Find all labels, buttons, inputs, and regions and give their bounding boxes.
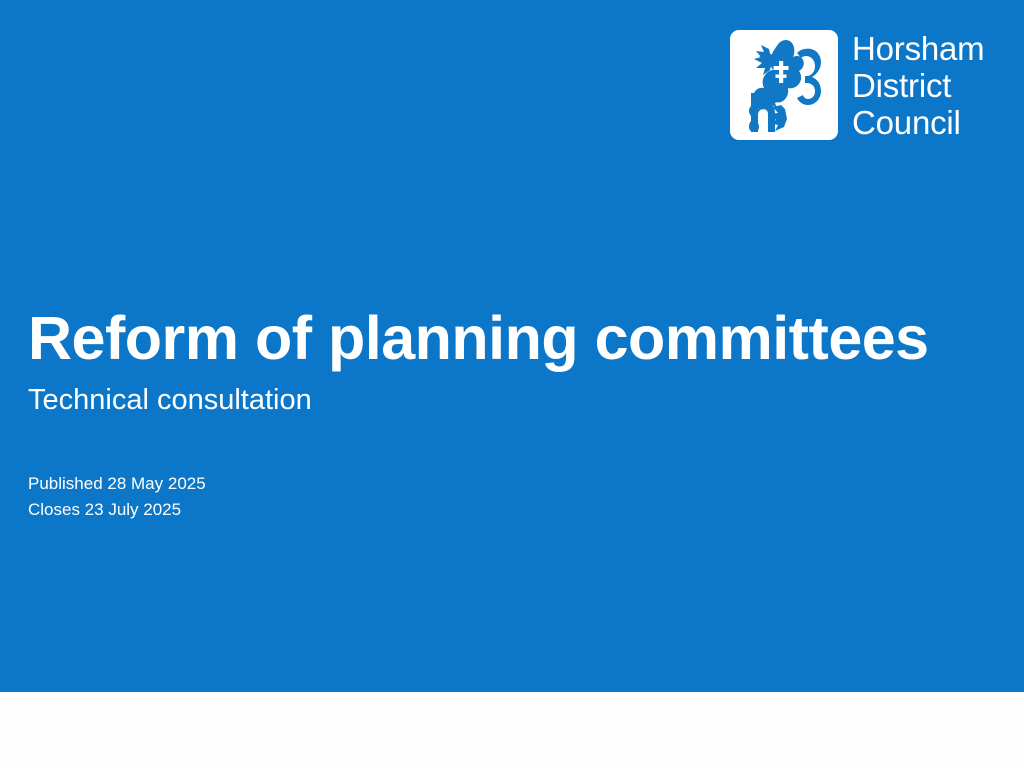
- slide-title: Reform of planning committees: [28, 305, 988, 371]
- logo-crest-box: [730, 30, 838, 140]
- logo-wordmark-line-horsham: Horsham: [852, 30, 984, 67]
- logo-wordmark: Horsham District Council: [852, 30, 984, 141]
- slide-bottom-strip: [0, 692, 1024, 768]
- slide-subtitle: Technical consultation: [28, 371, 988, 420]
- horsham-district-council-logo: Horsham District Council: [730, 30, 1002, 142]
- logo-wordmark-line-council: Council: [852, 104, 984, 141]
- title-block: Reform of planning committees Technical …: [28, 305, 988, 420]
- horsham-lion-crest-icon: [739, 35, 831, 135]
- consultation-dates-block: Published 28 May 2025 Closes 23 July 202…: [28, 471, 628, 523]
- presentation-slide: Horsham District Council Reform of plann…: [0, 0, 1024, 768]
- closing-date: Closes 23 July 2025: [28, 497, 628, 523]
- logo-wordmark-line-district: District: [852, 67, 984, 104]
- published-date: Published 28 May 2025: [28, 471, 628, 497]
